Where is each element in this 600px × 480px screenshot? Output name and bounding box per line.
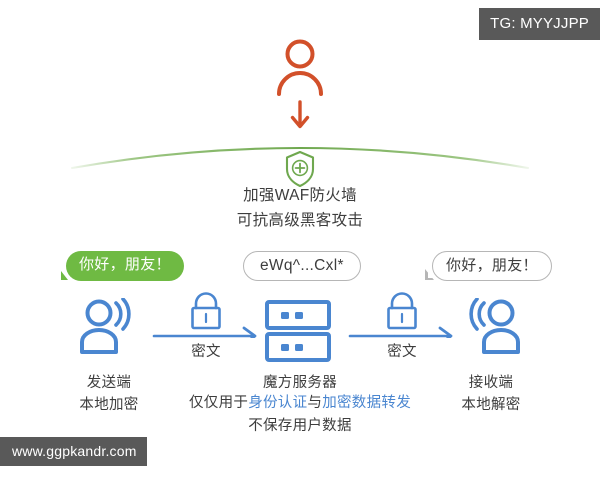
telegram-watermark: TG: MYYJJPP xyxy=(479,8,600,40)
server-note-line-1: 仅仅用于身份认证与加密数据转发 xyxy=(0,392,600,414)
link-b-label: 密文 xyxy=(348,340,456,361)
lock-closed-icon xyxy=(389,294,416,329)
firewall-caption-line-2: 可抗高级黑客攻击 xyxy=(0,208,600,233)
firewall-caption-line-1: 加强WAF防火墙 xyxy=(0,183,600,208)
node-sender-label-line-1: 发送端 xyxy=(48,372,170,394)
link-a-label: 密文 xyxy=(152,340,260,361)
server-note-highlight-relay: 加密数据转发 xyxy=(322,395,411,411)
arrow-right-icon xyxy=(154,328,255,338)
node-receiver xyxy=(460,298,522,356)
person-icon xyxy=(272,36,328,132)
link-b-graphics xyxy=(348,292,456,338)
bubble-plaintext-incoming: 你好，朋友！ xyxy=(432,251,552,281)
node-sender xyxy=(78,298,140,356)
node-server-label: 魔方服务器 xyxy=(240,372,360,394)
attacker-group xyxy=(272,36,328,132)
bubble-plaintext-outgoing: 你好，朋友！ xyxy=(66,251,184,281)
node-receiver-label-line-1: 接收端 xyxy=(430,372,552,394)
link-a-graphics xyxy=(152,292,260,338)
arrow-right-icon xyxy=(350,328,451,338)
server-stack-icon xyxy=(264,300,336,362)
diagram-canvas: 加强WAF防火墙 可抗高级黑客攻击 你好，朋友！ eWq^...Cxl* 你好，… xyxy=(0,0,600,480)
server-note-highlight-auth: 身份认证 xyxy=(248,395,307,411)
server-note-line-2: 不保存用户数据 xyxy=(0,415,600,437)
server-note-prefix: 仅仅用于 xyxy=(189,395,248,411)
server-note-conjunction: 与 xyxy=(307,395,322,411)
bubble-ciphertext: eWq^...Cxl* xyxy=(243,251,361,281)
person-listening-icon xyxy=(460,298,522,356)
person-speaking-icon xyxy=(78,298,140,356)
lock-closed-icon xyxy=(193,294,220,329)
firewall-caption: 加强WAF防火墙 可抗高级黑客攻击 xyxy=(0,183,600,233)
arrow-down-icon xyxy=(293,102,308,127)
link-sender-to-server: 密文 xyxy=(152,292,260,362)
website-watermark: www.ggpkandr.com xyxy=(0,437,147,466)
node-server xyxy=(264,300,336,362)
link-server-to-receiver: 密文 xyxy=(348,292,456,362)
